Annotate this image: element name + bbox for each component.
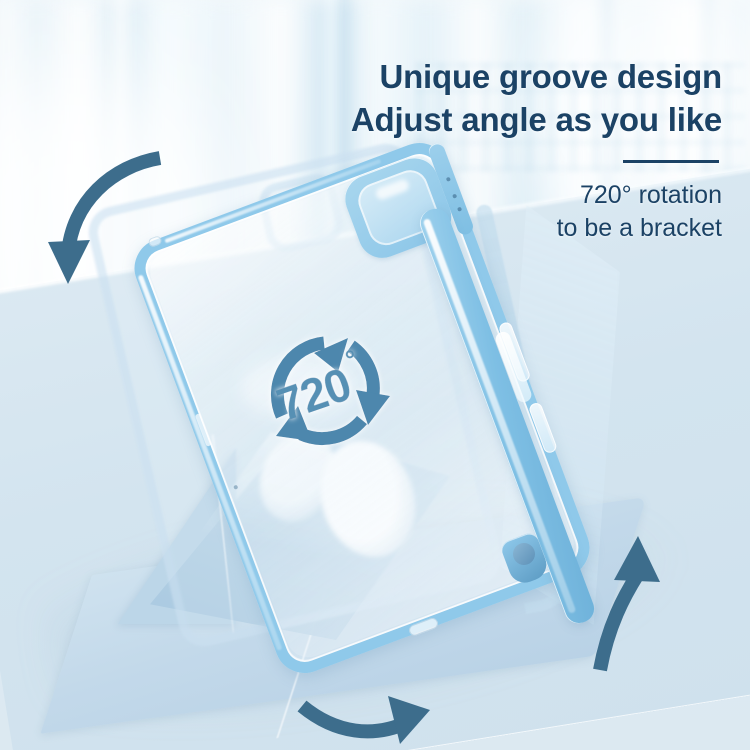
headline-line-1: Unique groove design xyxy=(379,58,722,95)
subheading: 720° rotation to be a bracket xyxy=(292,179,722,246)
subheading-line-1: 720° rotation xyxy=(580,181,722,209)
page-title: Unique groove design Adjust angle as you… xyxy=(292,56,722,142)
marketing-copy: Unique groove design Adjust angle as you… xyxy=(292,56,722,246)
divider xyxy=(623,160,719,163)
subheading-line-2: to be a bracket xyxy=(292,212,722,246)
rotation-badge: 720 ° xyxy=(252,320,410,460)
headline-line-2: Adjust angle as you like xyxy=(292,99,722,142)
product-marketing-banner: 720 ° Unique groove design Adjust angle … xyxy=(0,0,750,750)
